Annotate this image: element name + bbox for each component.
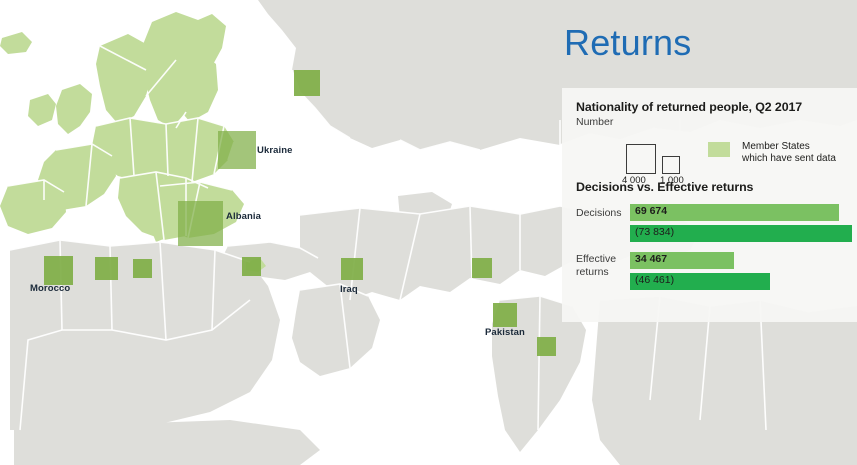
map-label-ukraine: Ukraine <box>257 145 293 156</box>
chart-title: Decisions vs. Effective returns <box>576 180 847 194</box>
map-square-tunisia <box>133 259 152 278</box>
map-label-albania: Albania <box>226 211 261 222</box>
legend-subheading: Number <box>576 116 847 128</box>
member-states-swatch <box>708 142 730 157</box>
legend-square-1000 <box>662 156 680 174</box>
map-square-ukraine <box>218 131 256 169</box>
map-square-pakistan <box>493 303 517 327</box>
bar-category-decisions: Decisions <box>576 207 622 220</box>
map-label-pakistan: Pakistan <box>485 327 525 338</box>
map-square-albania <box>178 201 223 246</box>
page-title: Returns <box>564 22 691 64</box>
bar-effective-returns-previous: (46 461) <box>630 273 770 290</box>
bar-value: 69 674 <box>635 205 667 217</box>
stats-panel: Nationality of returned people, Q2 2017 … <box>562 88 857 322</box>
bar-decisions-previous: (73 834) <box>630 225 852 242</box>
bar-category-effective-returns: Effectivereturns <box>576 253 616 278</box>
map-square-afghanistan <box>472 258 492 278</box>
bar-value: (46 461) <box>635 274 674 286</box>
bar-decisions-q2 2017: 69 674 <box>630 204 839 221</box>
map-label-morocco: Morocco <box>30 283 70 294</box>
map-square-morocco <box>44 256 73 285</box>
returns-infographic: UkraineAlbaniaMoroccoIraqPakistan Return… <box>0 0 857 465</box>
map-square-belarus <box>294 70 320 96</box>
map-label-iraq: Iraq <box>340 284 358 295</box>
map-square-turkey <box>242 257 261 276</box>
bar-chart-block: Decisions vs. Effective returns Decision… <box>576 180 847 314</box>
bar-value: 34 467 <box>635 253 667 265</box>
bar-chart: Decisions69 674(73 834)Effectivereturns3… <box>576 204 847 314</box>
bar-effective-returns-q2 2017: 34 467 <box>630 252 734 269</box>
member-states-label-line2: which have sent data <box>742 153 836 166</box>
legend-square-4000 <box>626 144 656 174</box>
map-square-iraq <box>341 258 363 280</box>
member-states-label-line1: Member States <box>742 141 810 154</box>
map-square-india <box>537 337 556 356</box>
legend-heading: Nationality of returned people, Q2 2017 <box>576 100 847 114</box>
legend-block: Nationality of returned people, Q2 2017 … <box>576 100 847 190</box>
map-square-algeria <box>95 257 118 280</box>
bar-value: (73 834) <box>635 226 674 238</box>
